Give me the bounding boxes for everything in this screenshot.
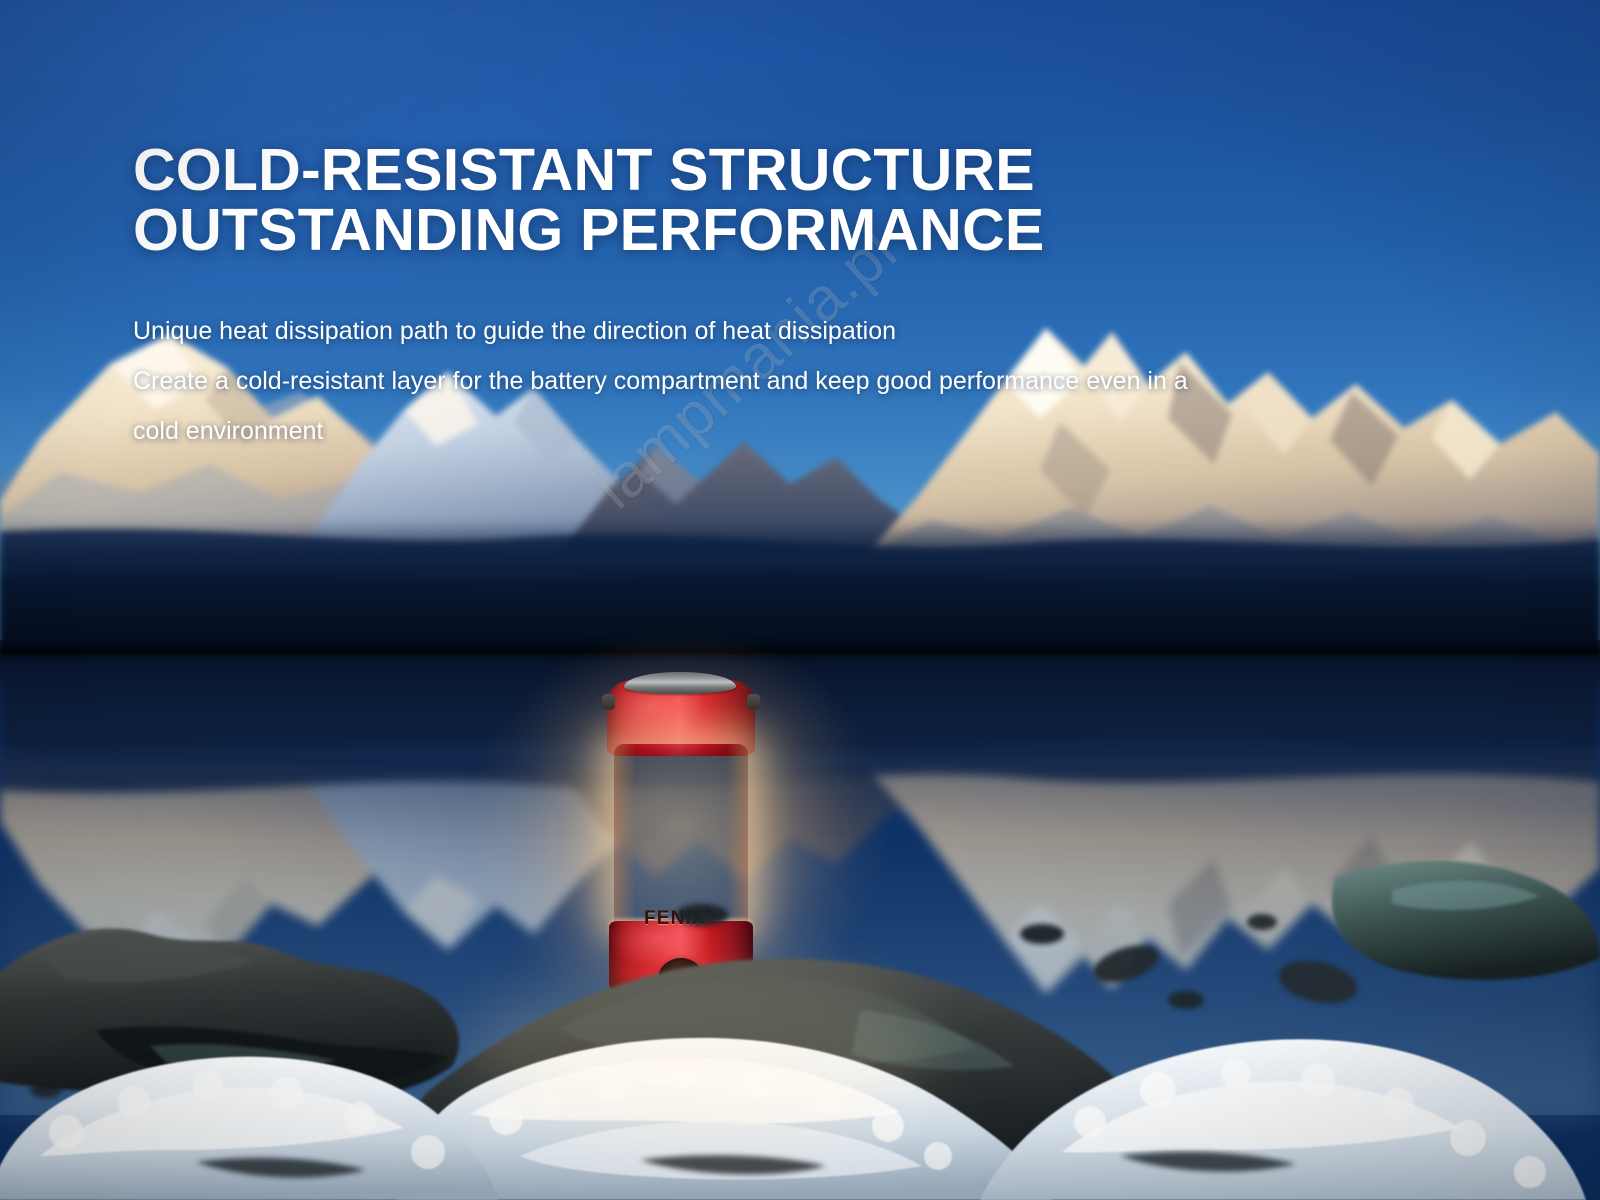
headline-line-2: OUTSTANDING PERFORMANCE <box>133 200 1233 260</box>
promo-banner: lampmania.pl FENIX✦ <box>0 0 1600 1200</box>
lantern-cap-plate <box>624 672 736 694</box>
subcopy: Unique heat dissipation path to guide th… <box>133 306 1383 456</box>
foreground-snowy-rocks <box>0 860 1600 1200</box>
headline-line-1: COLD-RESISTANT STRUCTURE <box>133 137 1035 203</box>
subcopy-line-3: cold environment <box>133 406 1383 456</box>
subcopy-line-2: Create a cold-resistant layer for the ba… <box>133 356 1383 406</box>
subcopy-line-1: Unique heat dissipation path to guide th… <box>133 306 1383 356</box>
page-title: COLD-RESISTANT STRUCTURE OUTSTANDING PER… <box>133 140 1233 260</box>
lantern-hook-lug-right <box>747 694 760 710</box>
lantern-hook-lug-left <box>602 694 615 710</box>
